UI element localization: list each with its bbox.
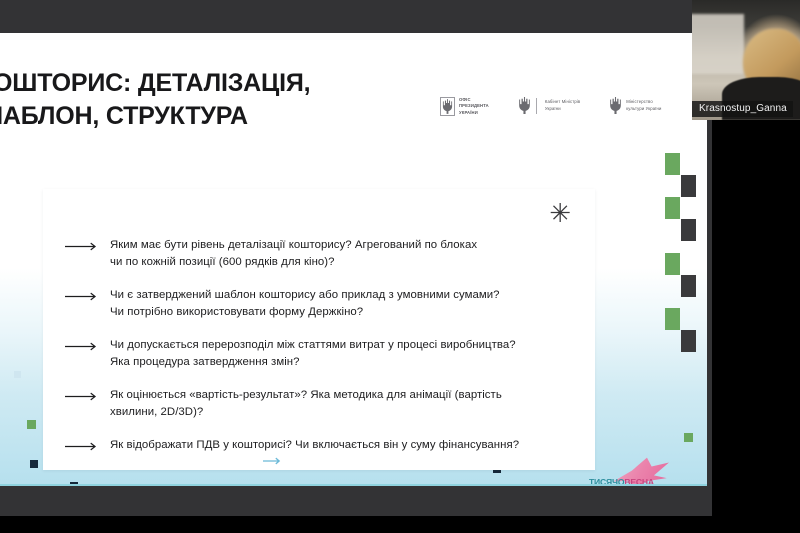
decorative-square (665, 253, 680, 275)
government-logo-strip: ОФІС ПРЕЗИДЕНТА УКРАЇНИ Кабінет Міністрі… (440, 97, 661, 116)
decorative-square (30, 460, 38, 468)
logo-text: ОФІС ПРЕЗИДЕНТА УКРАЇНИ (459, 97, 489, 115)
logo-text: Міністерство культури України (626, 99, 661, 111)
decorative-square (27, 420, 36, 429)
participant-video-tile[interactable]: Krasnostup_Ganna (692, 0, 800, 120)
decorative-square (665, 197, 680, 219)
decorative-square (665, 153, 680, 175)
decorative-square (684, 433, 693, 442)
list-item: Як оцінюється «вартість-результат»? Яка … (65, 387, 577, 420)
arrow-right-icon (65, 442, 98, 451)
logo-office-of-the-president: ОФІС ПРЕЗИДЕНТА УКРАЇНИ (440, 97, 489, 116)
list-item: Чи є затверджений шаблон кошторису або п… (65, 287, 577, 320)
arrow-right-icon-small (263, 457, 282, 465)
question-text: Як відображати ПДВ у кошторисі? Чи включ… (110, 437, 519, 454)
arrow-right-icon (65, 242, 98, 251)
question-text: Чи допускається перерозподіл між статтям… (110, 337, 516, 370)
arrow-right-icon (65, 342, 98, 351)
trident-icon (609, 97, 622, 114)
asterisk-icon: ✳ (549, 201, 571, 227)
video-background-wall (692, 14, 744, 74)
decorative-square (14, 371, 21, 378)
decorative-square (665, 308, 680, 330)
list-item: Яким має бути рівень деталізації коштори… (65, 237, 577, 270)
decorative-square (681, 275, 696, 297)
logo-text: Кабінет Міністрів України (545, 99, 580, 111)
decorative-checkerboard (665, 153, 705, 368)
logo-divider (536, 98, 537, 114)
list-item: Як відображати ПДВ у кошторисі? Чи включ… (65, 437, 577, 454)
slide-bottom-rule (0, 484, 707, 486)
list-item: Чи допускається перерозподіл між статтям… (65, 337, 577, 370)
decorative-square (681, 175, 696, 197)
logo-ministry-of-culture: Міністерство культури України (604, 97, 661, 114)
trident-icon (518, 97, 531, 114)
arrow-right-icon (65, 292, 98, 301)
arrow-right-icon (65, 392, 98, 401)
question-text: Як оцінюється «вартість-результат»? Яка … (110, 387, 502, 420)
participant-name-label: Krasnostup_Ganna (692, 101, 793, 117)
questions-list: Яким має бути рівень деталізації коштори… (65, 237, 577, 454)
logo-cabinet-of-ministers: Кабінет Міністрів України (513, 97, 580, 114)
question-text: Яким має бути рівень деталізації коштори… (110, 237, 477, 270)
screen-share-window: КОШТОРИС: ДЕТАЛІЗАЦІЯ, ШАБЛОН, СТРУКТУРА… (0, 0, 800, 533)
decorative-square (681, 330, 696, 352)
question-text: Чи є затверджений шаблон кошторису або п… (110, 287, 500, 320)
sponsor-logo: ТИСЯЧОВЕСНА ПІДТРИМКА ПРОГРАМИ (589, 457, 675, 485)
presentation-slide: КОШТОРИС: ДЕТАЛІЗАЦІЯ, ШАБЛОН, СТРУКТУРА… (0, 33, 707, 485)
page-title: КОШТОРИС: ДЕТАЛІЗАЦІЯ, ШАБЛОН, СТРУКТУРА (0, 67, 398, 132)
questions-card: ✳ Яким має бути рівень деталізації кошто… (43, 189, 595, 470)
decorative-square (681, 219, 696, 241)
trident-icon (440, 97, 455, 116)
